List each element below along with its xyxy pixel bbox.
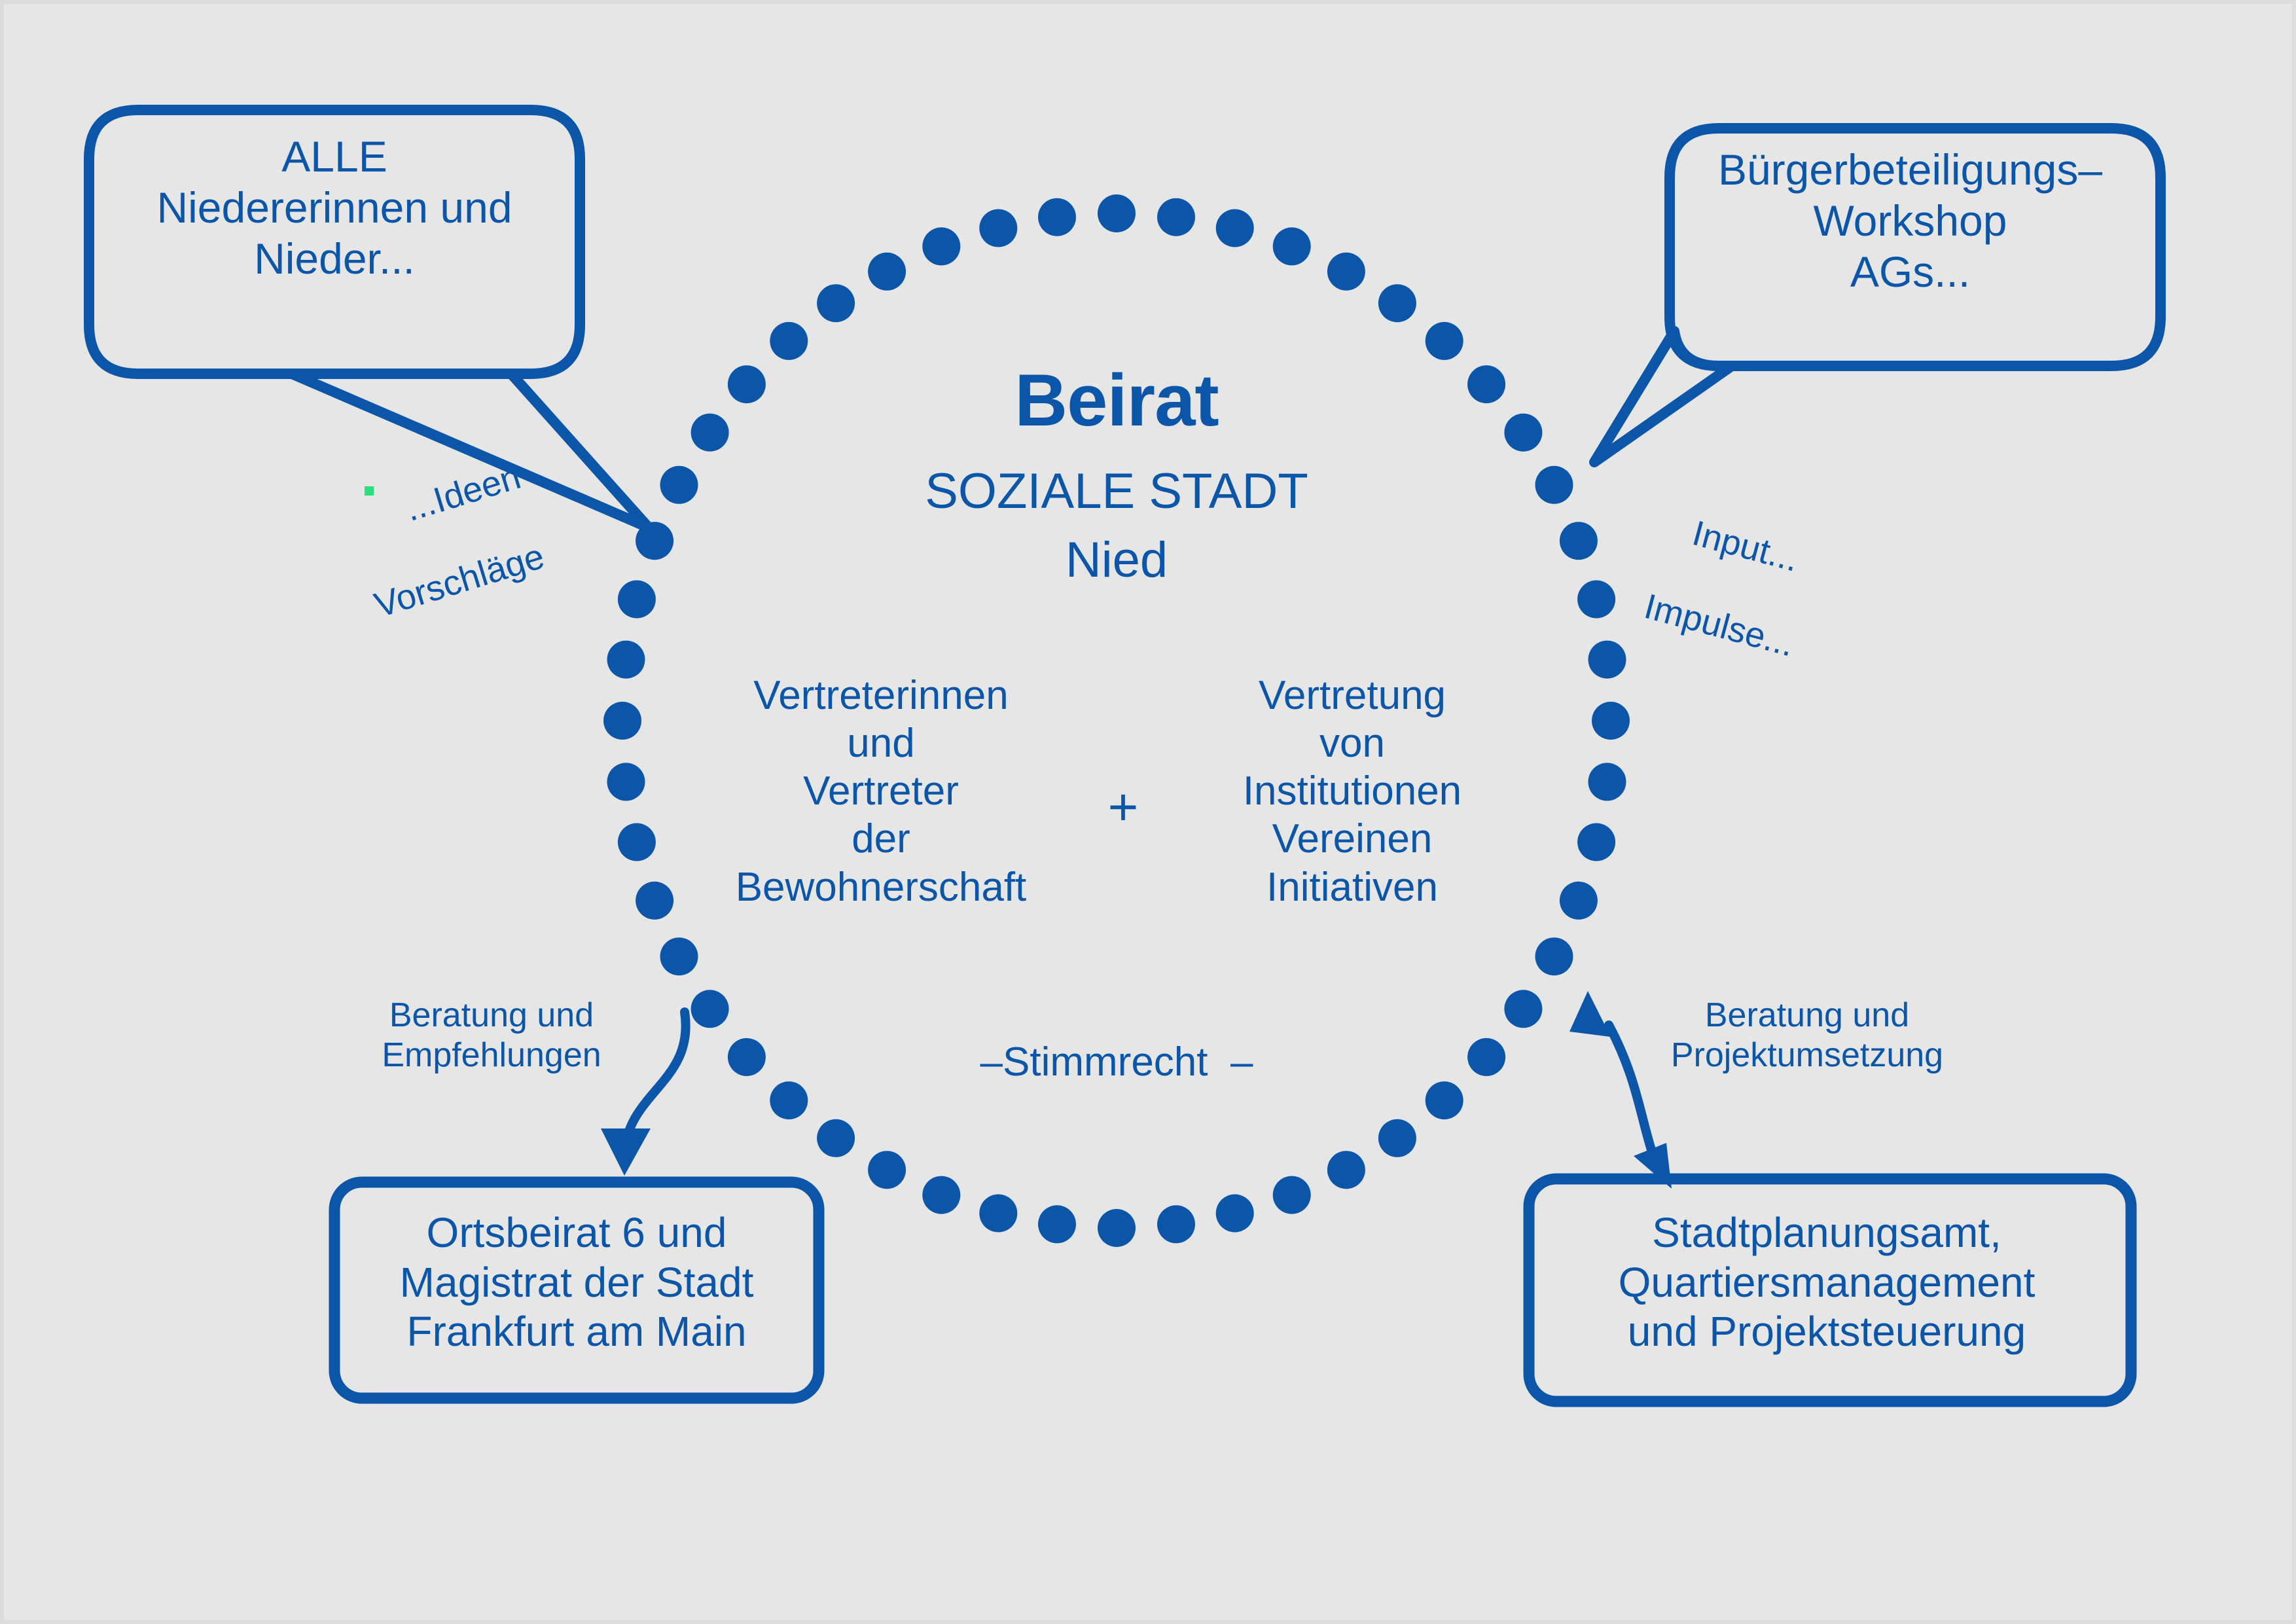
center-plus-connector: +	[1077, 776, 1169, 838]
ring-dot	[1378, 1119, 1416, 1157]
ring-dot	[1577, 581, 1615, 619]
ring-dot	[1038, 198, 1076, 236]
flow-label-right-lower: Beratung und Projektumsetzung	[1643, 996, 1971, 1076]
ring-dot	[1560, 522, 1598, 560]
center-heading: Beirat	[724, 357, 1509, 444]
ring-dot	[1327, 1151, 1365, 1189]
ring-dot	[1327, 253, 1365, 291]
ring-dot	[1426, 322, 1463, 360]
ring-dot	[603, 702, 641, 740]
ring-dot	[607, 763, 645, 801]
center-column-right: Vertretung von Institutionen Vereinen In…	[1202, 672, 1503, 911]
ring-dot	[728, 1038, 766, 1076]
ring-dot	[817, 284, 855, 322]
ring-dot	[636, 882, 673, 920]
ring-dot	[770, 322, 808, 360]
ring-dot	[1378, 284, 1416, 322]
center-subheading-line2: Nied	[724, 531, 1509, 590]
ring-dot	[817, 1119, 855, 1157]
ring-dot	[691, 414, 729, 452]
ring-dot	[1216, 1195, 1254, 1233]
ring-dot	[1273, 227, 1311, 265]
bubble-top-right-text: Bürgerbeteiligungs– Workshop AGs...	[1670, 145, 2151, 298]
ring-dot	[1535, 937, 1573, 975]
ring-dot	[1273, 1176, 1311, 1214]
center-column-left: Vertreterinnen und Vertreter der Bewohne…	[711, 672, 1051, 911]
flow-label-right-upper-line2: Impulse...	[1640, 586, 1905, 695]
flow-label-right-upper-line1: Input...	[1689, 513, 1803, 579]
ring-dot	[1504, 990, 1542, 1028]
diagram-canvas: ALLE Niedererinnen und Nieder... Bürgerb…	[0, 0, 2296, 1624]
bubble-top-left-text: ALLE Niedererinnen und Nieder...	[89, 132, 580, 285]
ring-dot	[691, 990, 729, 1028]
ring-dot	[770, 1081, 808, 1119]
ring-dot	[1038, 1205, 1076, 1243]
ring-dot	[660, 937, 698, 975]
ring-dot	[1467, 1038, 1505, 1076]
ring-dot	[618, 823, 656, 861]
ring-dot	[1426, 1081, 1463, 1119]
center-subheading-line1: SOZIALE STADT	[724, 462, 1509, 521]
ring-dot	[1157, 1205, 1195, 1243]
ring-dot	[979, 1195, 1017, 1233]
center-footnote-stimmrecht: –Stimmrecht –	[940, 1038, 1293, 1086]
box-bottom-right-text: Stadtplanungsamt, Quartiersmanagement un…	[1529, 1208, 2125, 1357]
ring-dot	[607, 641, 645, 679]
flow-label-left-lower: Beratung und Empfehlungen	[344, 996, 639, 1076]
ring-dot	[1577, 823, 1615, 861]
ring-dot	[1098, 1209, 1136, 1247]
ring-dot	[660, 466, 698, 504]
ring-dot	[1535, 466, 1573, 504]
ring-dot	[979, 209, 1017, 247]
ring-dot	[1216, 209, 1254, 247]
ring-dot	[1157, 198, 1195, 236]
ring-dot	[1098, 194, 1136, 232]
ring-dot	[868, 1151, 906, 1189]
ring-dot	[868, 253, 906, 291]
ring-dot	[922, 1176, 960, 1214]
ring-dot	[922, 227, 960, 265]
box-bottom-left-text: Ortsbeirat 6 und Magistrat der Stadt Fra…	[338, 1208, 816, 1357]
ring-dot	[1504, 414, 1542, 452]
ring-dot	[1588, 763, 1626, 801]
ring-dot	[1560, 882, 1598, 920]
flow-label-left-upper-line1: ...Ideen	[401, 457, 525, 529]
